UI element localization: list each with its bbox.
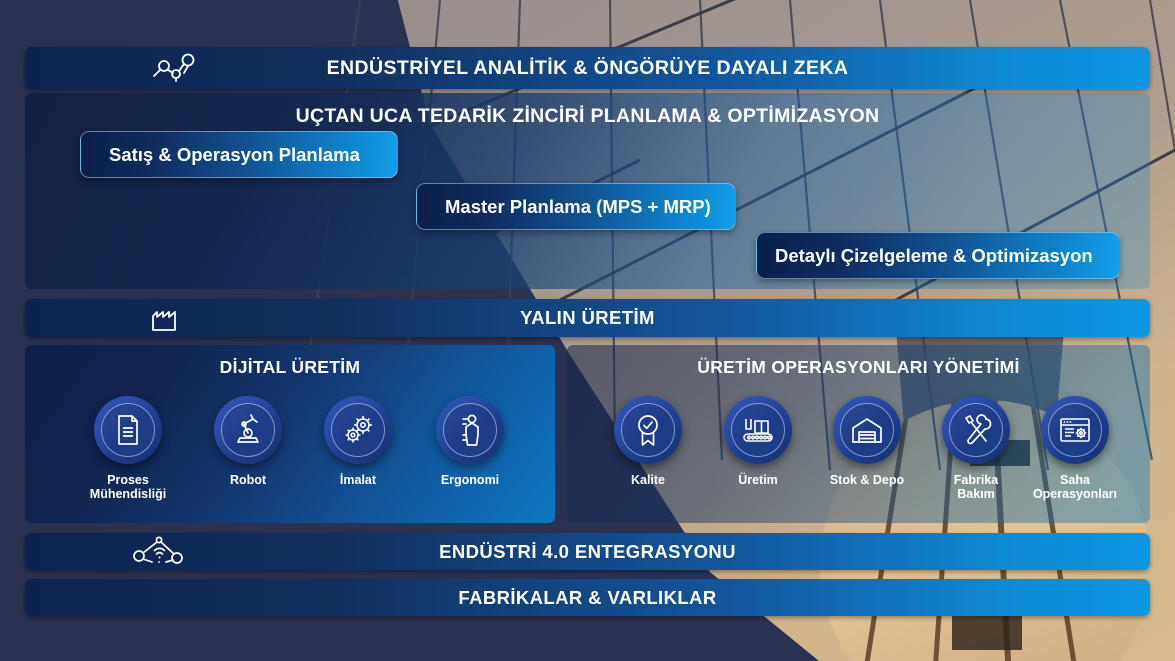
tile-fabrika-bakim[interactable]: Fabrika Bakım [930,396,1022,501]
person-ergonomics-icon [436,396,504,464]
panel-supply-chain-title: UÇTAN UCA TEDARİK ZİNCİRİ PLANLAMA & OPT… [25,105,1150,128]
tile-kalite[interactable]: Kalite [602,396,694,487]
quality-badge-icon [614,396,682,464]
tile-label: Proses Mühendisliği [90,473,166,501]
tile-imalat[interactable]: İmalat [312,396,404,487]
document-icon [94,396,162,464]
analytics-nodes-icon [148,50,200,86]
bar-industry-label: ENDÜSTRİ 4.0 ENTEGRASYONU [439,541,736,563]
panel-digital-production-title: DİJİTAL ÜRETİM [25,357,555,378]
bar-factories-label: FABRİKALAR & VARLIKLAR [458,587,716,609]
tile-proses-muhendisligi[interactable]: Proses Mühendisliği [82,396,174,501]
tile-ergonomi[interactable]: Ergonomi [424,396,516,487]
bar-analytics-label: ENDÜSTRİYEL ANALİTİK & ÖNGÖRÜYE DAYALI Z… [327,57,849,80]
tile-label: Stok & Depo [830,473,904,487]
card-master-planning[interactable]: Master Planlama (MPS + MRP) [416,183,736,230]
bar-lean-label: YALIN ÜRETİM [520,307,655,329]
tile-label: Kalite [631,473,665,487]
tile-label: Üretim [738,473,778,487]
card-sop-label: Satış & Operasyon Planlama [109,144,360,166]
conveyor-belt-icon [724,396,792,464]
tile-saha-operasyonlari[interactable]: Saha Operasyonları [1029,396,1121,501]
tile-label: Saha Operasyonları [1033,473,1117,501]
infographic-root: ENDÜSTRİYEL ANALİTİK & ÖNGÖRÜYE DAYALI Z… [0,0,1175,661]
browser-gear-icon [1041,396,1109,464]
tile-label: Ergonomi [441,473,499,487]
tile-uretim[interactable]: Üretim [712,396,804,487]
robot-arm-icon [214,396,282,464]
tile-label: Fabrika Bakım [954,473,998,501]
tile-stok-depo[interactable]: Stok & Depo [821,396,913,487]
bar-factories-assets[interactable]: FABRİKALAR & VARLIKLAR [25,579,1150,616]
gears-icon [324,396,392,464]
wrench-hammer-icon [942,396,1010,464]
card-master-label: Master Planlama (MPS + MRP) [445,196,711,218]
tile-robot[interactable]: Robot [202,396,294,487]
iot-network-wifi-icon [128,533,190,570]
card-detailed-scheduling[interactable]: Detaylı Çizelgeleme & Optimizasyon [756,232,1120,279]
tile-label: İmalat [340,473,376,487]
card-sales-operations-planning[interactable]: Satış & Operasyon Planlama [80,131,398,178]
panel-manufacturing-operations-title: ÜRETİM OPERASYONLARI YÖNETİMİ [567,357,1150,378]
card-detail-label: Detaylı Çizelgeleme & Optimizasyon [775,245,1093,267]
warehouse-icon [833,396,901,464]
tile-label: Robot [230,473,266,487]
factory-icon [145,301,197,335]
bar-industry-40-integration[interactable]: ENDÜSTRİ 4.0 ENTEGRASYONU [25,533,1150,570]
